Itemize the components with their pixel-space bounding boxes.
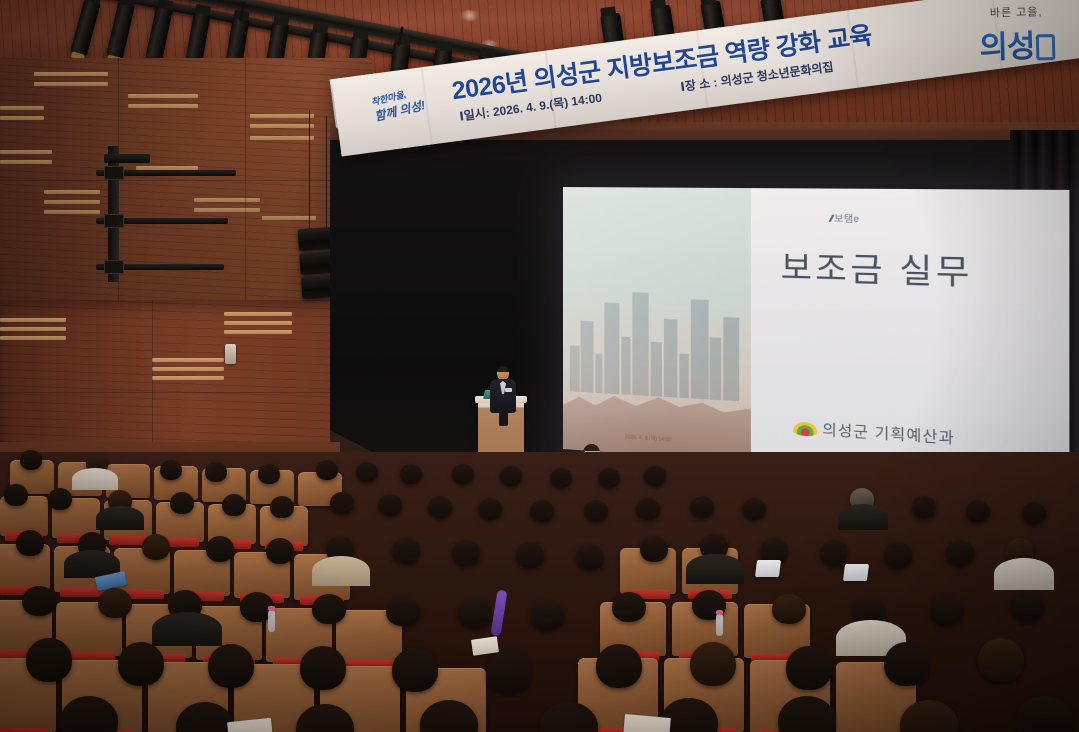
audience-head xyxy=(486,650,532,694)
wall-speaker-icon xyxy=(225,344,236,364)
county-mark-icon xyxy=(1035,34,1055,60)
city-skyline-graphic xyxy=(563,276,751,402)
audience-shoulders xyxy=(838,504,888,530)
bracket-box xyxy=(104,260,124,274)
laptop-icon xyxy=(843,564,869,581)
audience-head xyxy=(966,500,990,522)
brand-label: 보탬e xyxy=(834,213,859,224)
slide-brand: ///보탬e xyxy=(829,211,859,225)
audience-head xyxy=(392,648,438,692)
bracket-box xyxy=(104,166,124,180)
wall-accent-slat xyxy=(0,327,66,331)
umbrella-icon xyxy=(490,590,507,637)
audience-head xyxy=(356,462,378,482)
audience-head xyxy=(270,496,294,518)
wall-accent-slat xyxy=(152,376,224,380)
moderator-person xyxy=(490,366,516,426)
wall-accent-slat xyxy=(224,330,292,334)
audience-head xyxy=(584,500,608,522)
audience-shoulders xyxy=(686,554,744,584)
projected-slide: 2026. 4. 9.(목) 14:00 ///보탬e 보조금 실무 의성군 기… xyxy=(563,187,1069,486)
audience-head xyxy=(452,540,480,566)
audience-head xyxy=(330,492,354,514)
person-legs xyxy=(499,412,508,426)
audience-head xyxy=(636,498,660,520)
audience-head xyxy=(1016,696,1074,732)
speaker-suspension-wire xyxy=(309,110,310,232)
wall-accent-slat xyxy=(152,367,224,371)
audience-head xyxy=(576,544,604,570)
spotlight-icon xyxy=(70,0,101,57)
audience-head xyxy=(48,488,72,510)
audience-head xyxy=(22,586,56,616)
wall-accent-slat xyxy=(0,336,66,340)
county-tagline: 바른 고을, xyxy=(960,3,1072,22)
wall-accent-slat xyxy=(0,318,66,322)
audience-head xyxy=(378,494,402,516)
audience-head xyxy=(786,646,832,690)
audience-head xyxy=(386,596,420,626)
audience-shoulders xyxy=(72,468,118,490)
wall-accent-slat xyxy=(224,312,292,316)
slide-title: 보조금 실무 xyxy=(781,241,973,294)
bracket-arm xyxy=(104,154,150,163)
brand-glyph-icon: /// xyxy=(827,213,832,224)
water-bottle-icon xyxy=(716,614,723,636)
name-badge xyxy=(505,388,512,392)
audience-head xyxy=(1010,592,1044,622)
audience-head xyxy=(26,638,72,682)
audience-head xyxy=(820,540,848,566)
wall-accent-slat xyxy=(224,321,292,325)
audience-head xyxy=(300,646,346,690)
audience-head xyxy=(4,484,28,506)
audience-head xyxy=(912,496,936,518)
audience-head xyxy=(118,642,164,686)
audience-head xyxy=(690,642,736,686)
audience-head xyxy=(20,450,42,470)
audience-head xyxy=(930,596,964,626)
county-logo: 바른 고을, 의성 xyxy=(960,3,1074,88)
audience-head xyxy=(312,594,346,624)
audience-head xyxy=(596,644,642,688)
audience-head xyxy=(208,644,254,688)
audience-head xyxy=(222,494,246,516)
audience-head xyxy=(205,462,227,482)
audience-head xyxy=(258,464,280,484)
audience-shoulders xyxy=(312,556,370,586)
slide-image-panel: 2026. 4. 9.(목) 14:00 xyxy=(563,187,751,463)
spotlight-icon xyxy=(106,2,135,60)
water-bottle-icon xyxy=(268,610,275,632)
handout-paper xyxy=(623,714,671,732)
audience-head xyxy=(530,500,554,522)
audience-head xyxy=(884,542,912,568)
bracket-box xyxy=(104,214,124,228)
banner-slogan: 착한마을, 함께 의성! xyxy=(370,78,458,140)
audience-head xyxy=(598,468,620,488)
handout-paper xyxy=(471,636,499,655)
audience-head xyxy=(612,592,646,622)
audience-head xyxy=(516,542,544,568)
audience-head xyxy=(160,460,182,480)
audience-shoulders xyxy=(994,558,1054,590)
audience-head xyxy=(98,588,132,618)
department-label: 의성군 기획예산과 xyxy=(822,421,955,447)
audience-head xyxy=(690,496,714,518)
audience-head xyxy=(500,466,522,486)
audience-shoulders xyxy=(96,506,144,530)
audience-head xyxy=(742,498,766,520)
audience-head xyxy=(884,642,930,686)
audience-head xyxy=(978,638,1024,682)
audience-shoulders xyxy=(152,612,222,646)
audience-head xyxy=(644,466,666,486)
audience-head xyxy=(946,540,974,566)
audience-head xyxy=(640,536,668,562)
audience-head xyxy=(458,598,492,628)
wall-mounted-bracket xyxy=(96,146,241,282)
audience-head xyxy=(16,530,44,556)
audience-head xyxy=(1022,502,1046,524)
audience-head xyxy=(142,534,170,560)
wall-accent-slat xyxy=(152,358,224,362)
audience-head xyxy=(400,464,422,484)
audience-area xyxy=(0,452,1079,732)
audience-head xyxy=(428,496,452,518)
county-name: 의성 xyxy=(979,29,1035,65)
audience-head xyxy=(452,464,474,484)
audience-head xyxy=(478,498,502,520)
auditorium-photo: 2026. 4. 9.(목) 14:00 ///보탬e 보조금 실무 의성군 기… xyxy=(0,0,1079,732)
audience-head xyxy=(316,460,338,480)
laptop-icon xyxy=(755,560,781,577)
audience-head xyxy=(206,536,234,562)
audience-head xyxy=(392,538,420,564)
projection-screen: 2026. 4. 9.(목) 14:00 ///보탬e 보조금 실무 의성군 기… xyxy=(563,187,1069,486)
speaker-suspension-wire xyxy=(326,116,327,232)
slide-text-panel: ///보탬e 보조금 실무 의성군 기획예산과 xyxy=(751,188,1070,486)
audience-head xyxy=(266,538,294,564)
county-emblem-icon xyxy=(793,421,817,436)
audience-head xyxy=(772,594,806,624)
slide-department: 의성군 기획예산과 xyxy=(793,417,955,449)
audience-head xyxy=(530,600,564,630)
person-head xyxy=(497,366,509,380)
audience-head xyxy=(550,468,572,488)
audience-head xyxy=(170,492,194,514)
spotlight-icon xyxy=(145,5,173,63)
